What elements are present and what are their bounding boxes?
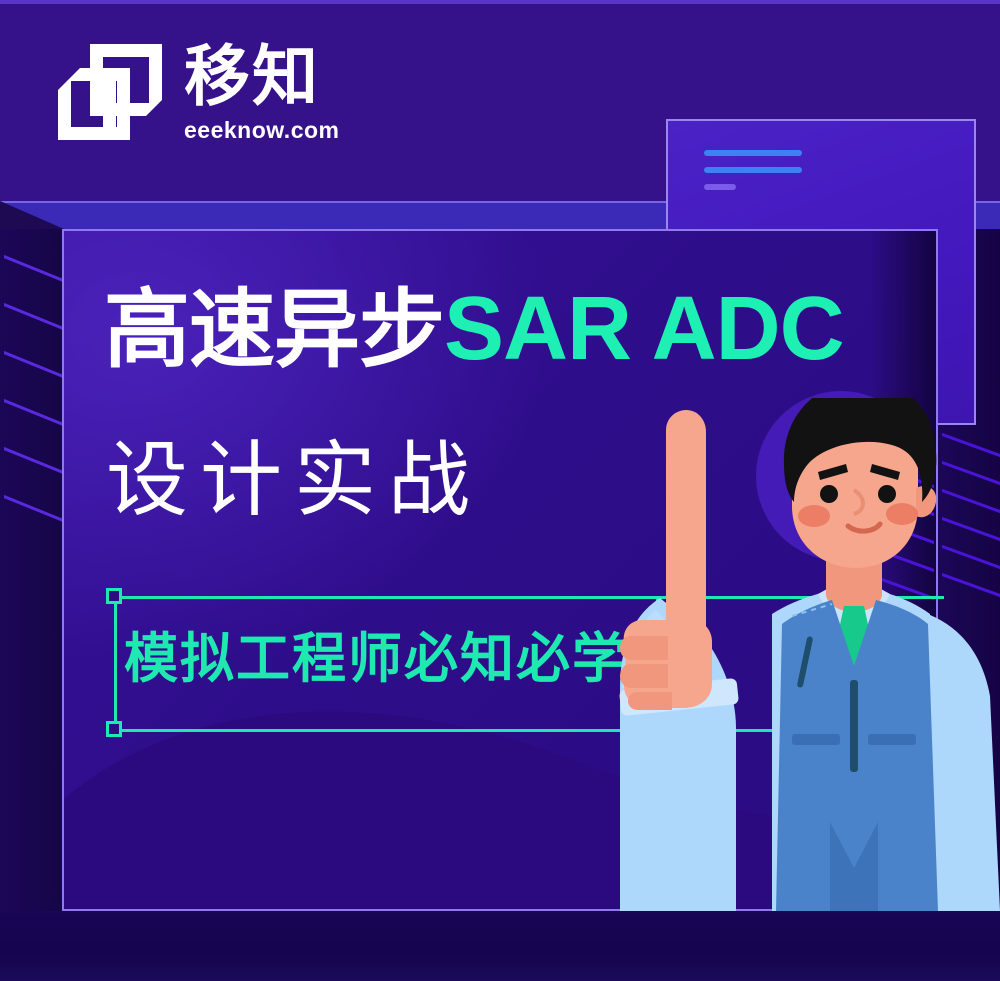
decor-bar-blue-2 <box>704 167 802 173</box>
left-diagonal-stripes <box>4 241 62 601</box>
brand-logo[interactable]: 移知 eeeknow.com <box>58 44 339 156</box>
decor-bar-purple <box>704 184 736 190</box>
blush-right <box>886 503 918 525</box>
blush-left <box>798 505 830 527</box>
index-finger <box>666 410 706 630</box>
frame-corner-bottom-left <box>106 721 122 737</box>
instructor-illustration <box>586 398 1000 911</box>
logo-website-url: eeeknow.com <box>184 117 339 144</box>
frame-corner-top-left <box>106 588 122 604</box>
poster-root: 移知 eeeknow.com 高速异步 SAR ADC 设计实战 模拟工程师必知… <box>0 0 1000 981</box>
bottom-navy-band <box>0 910 1000 981</box>
logo-brand-name: 移知 <box>184 44 339 110</box>
headline-row: 高速异步 SAR ADC <box>104 284 844 374</box>
vest-pocket-left <box>792 734 840 745</box>
decor-bar-blue-1 <box>704 150 802 156</box>
vest-pocket-right <box>868 734 916 745</box>
tagline-text: 模拟工程师必知必学 <box>124 629 628 688</box>
logo-text-block: 移知 eeeknow.com <box>184 44 339 144</box>
logo-mark-icon <box>58 44 162 156</box>
headline-subtitle: 设计实战 <box>106 440 482 522</box>
headline-chinese: 高速异步 <box>104 287 444 373</box>
vest-seam <box>850 680 858 772</box>
eye-right <box>878 485 896 503</box>
headline-english: SAR ADC <box>444 284 844 374</box>
left-column-block <box>0 229 62 911</box>
top-edge-strip <box>0 0 1000 4</box>
eye-left <box>820 485 838 503</box>
